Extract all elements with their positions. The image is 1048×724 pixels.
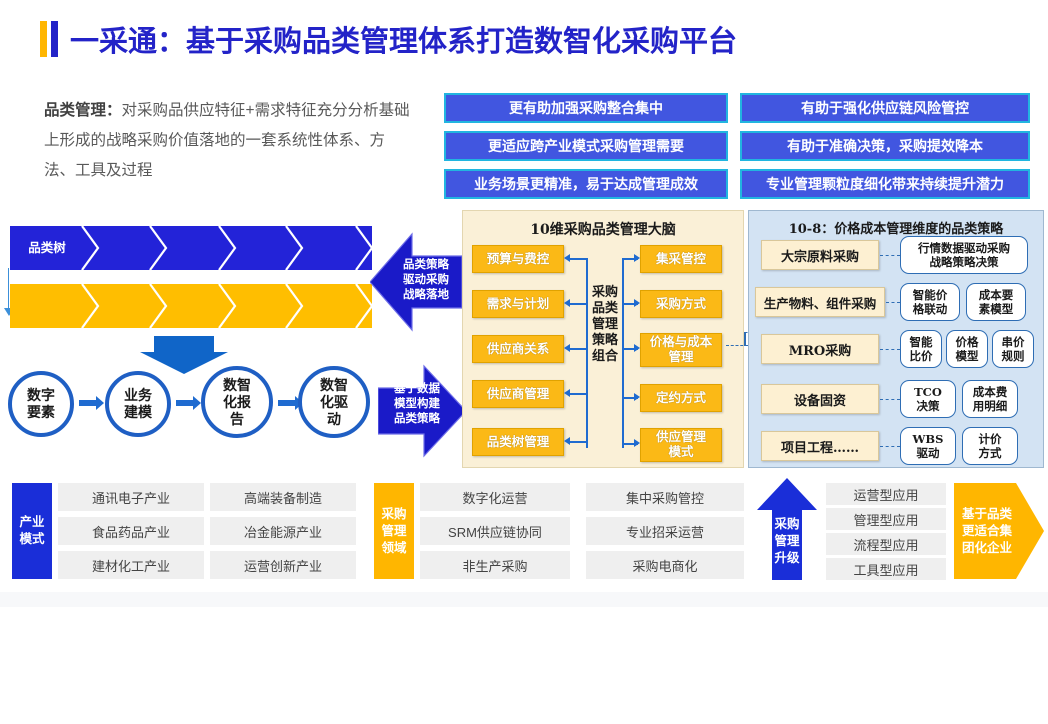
bottom-label-domain-2: 管理 [381,523,406,540]
upgrade-item-3[interactable]: 流程型应用 [826,533,946,555]
domain-col2-2[interactable]: 专业招采运营 [586,517,744,545]
rp-tag-4-1[interactable]: TCO 决策 [900,380,956,418]
center-strategy-label: 采购 品类 管理 策略 组合 [582,285,628,365]
rp-tag-3-2-b: 模型 [956,349,979,363]
center-right-item-2-label: 采购方式 [656,297,706,312]
center-right-arrow-5 [634,439,640,447]
center-label-5: 组合 [582,349,628,365]
circle-1[interactable]: 数字 要素 [8,371,74,437]
chevron-bottom-4[interactable]: 质量协同 [224,636,286,680]
center-right-item-4[interactable]: 定约方式 [640,384,722,412]
bottom-label-domain[interactable]: 采购 管理 领域 [374,483,414,579]
strategy-left-line-2: 驱动采购 [392,273,460,288]
center-panel-title: 10维采购品类管理大脑 [463,219,743,239]
upgrade-item-2[interactable]: 管理型应用 [826,508,946,530]
benefit-right-3[interactable]: 专业管理颗粒度细化带来持续提升潜力 [740,169,1030,199]
title-accent-blue-bar [51,21,58,57]
domain-col2-3[interactable]: 采购电商化 [586,551,744,579]
rp-dash-3 [880,349,900,350]
title-accent-yellow-bar [40,21,47,57]
circle-1-line-1: 数字 [27,387,55,404]
circle-4-line-2: 化驱 [320,394,348,411]
intro-paragraph: 品类管理：对采购品供应特征+需求特征充分分析基础上形成的战略采购价值落地的一套系… [44,96,414,186]
center-right-item-5[interactable]: 供应管理 模式 [640,428,722,462]
center-label-4: 策略 [582,333,628,349]
center-left-item-3[interactable]: 供应商关系 [472,335,564,363]
chevron-bottom-3-label-b: 同 [181,614,194,629]
upgrade-item-4[interactable]: 工具型应用 [826,558,946,580]
center-right-arrow-2 [634,299,640,307]
rp-tag-1-1[interactable]: 行情数据驱动采购 战略策略决策 [900,236,1028,274]
final-chevron-line-1: 基于品类 [962,506,1012,523]
domain-col1-2[interactable]: SRM供应链协同 [420,517,570,545]
down-arrow-icon [140,336,228,374]
circle-2-line-2: 建模 [124,404,152,421]
final-chevron-label[interactable]: 基于品类 更适合集 团化企业 [954,483,1020,579]
rp-category-5[interactable]: 项目工程…… [761,431,879,461]
center-right-item-2[interactable]: 采购方式 [640,290,722,318]
rp-tag-4-2[interactable]: 成本费 用明细 [962,380,1018,418]
chevron-bottom-4-label: 质量协同 [230,651,280,666]
circle-connector-1 [79,400,97,406]
center-left-arrow-2 [564,299,570,307]
circle-3-line-2: 化报 [223,394,251,411]
benefit-left-1[interactable]: 更有助加强采购整合集中 [444,93,728,123]
center-left-item-5[interactable]: 品类树管理 [472,428,564,456]
circle-connector-2 [176,400,194,406]
chevron-bottom-5[interactable]: 对账结算 1 [292,680,358,724]
chevron-bottom-5-label-b: 1 [322,702,329,717]
rp-tag-3-3-a: 串价 [1002,335,1025,349]
circle-3[interactable]: 数智 化报 告 [201,366,273,438]
rp-tag-5-2-a: 计价 [979,432,1002,446]
center-right-item-3-label-a: 价格与成本 [650,335,713,350]
rp-tag-2-1-a: 智能价 [913,288,948,302]
rp-tag-3-1-b: 比价 [910,349,933,363]
industry-col1-1[interactable]: 通讯电子产业 [58,483,204,511]
data-right-line-2: 模型构建 [384,397,450,412]
rp-tag-5-1-b: 驱动 [917,446,940,460]
rp-category-4[interactable]: 设备固资 [761,384,879,414]
bottom-label-industry[interactable]: 产业 模式 [12,483,52,579]
center-left-item-2[interactable]: 需求与计划 [472,290,564,318]
rp-category-2[interactable]: 生产物料、组件采购 [755,287,885,317]
center-left-arrow-5 [564,437,570,445]
industry-col2-3[interactable]: 运营创新产业 [210,551,356,579]
industry-col2-1[interactable]: 高端装备制造 [210,483,356,511]
page-title: 一采通：基于采购品类管理体系打造数智化采购平台 [40,18,737,60]
rp-tag-4-2-a: 成本费 [973,385,1008,399]
bottom-label-upgrade[interactable]: 采购 管理 升级 [760,508,814,574]
domain-col1-1[interactable]: 数字化运营 [420,483,570,511]
rp-tag-3-2[interactable]: 价格 模型 [946,330,988,368]
rp-tag-4-2-b: 用明细 [973,399,1008,413]
center-right-item-5-label-b: 模式 [668,445,693,460]
center-left-item-1[interactable]: 预算与费控 [472,245,564,273]
chevron-bottom-5-label-a: 对账结算 [300,687,350,702]
center-label-2: 品类 [582,301,628,317]
center-right-item-4-label: 定约方式 [656,391,706,406]
center-left-conn-4 [570,393,588,395]
circle-2[interactable]: 业务 建模 [105,371,171,437]
rp-dash-4 [880,399,900,400]
rp-dash-5 [880,446,900,447]
center-left-arrow-4 [564,389,570,397]
benefit-left-2[interactable]: 更适应跨产业模式采购管理需要 [444,131,728,161]
bottom-label-domain-1: 采购 [381,506,406,523]
rp-tag-3-1-a: 智能 [910,335,933,349]
rp-tag-2-2-b: 素模型 [979,302,1014,316]
center-right-item-3-label-b: 管理 [668,350,693,365]
circle-4-line-1: 数智 [320,377,348,394]
circle-1-line-2: 要素 [27,404,55,421]
bottom-label-industry-2: 模式 [19,531,44,548]
center-right-arrow-1 [634,254,640,262]
industry-col1-3[interactable]: 建材化工产业 [58,551,204,579]
rp-tag-5-2[interactable]: 计价 方式 [962,427,1018,465]
bottom-label-upgrade-1: 采购 [774,516,799,533]
circle-connector-3 [278,400,296,406]
bottom-label-upgrade-3: 升级 [774,550,799,567]
center-left-arrow-3 [564,344,570,352]
domain-col1-3[interactable]: 非生产采购 [420,551,570,579]
rp-tag-1-1-b: 战略策略决策 [930,255,999,269]
center-right-item-3[interactable]: 价格与成本 管理 [640,333,722,367]
strategy-left-arrow-label: 品类策略 驱动采购 战略落地 [392,258,460,303]
footer-strip [0,592,1048,607]
chevron-band-bottom [10,284,372,328]
industry-col2-2[interactable]: 冶金能源产业 [210,517,356,545]
data-right-line-3: 品类策略 [384,412,450,427]
center-label-1: 采购 [582,285,628,301]
rp-tag-2-1[interactable]: 智能价 格联动 [900,283,960,321]
circle-3-line-3: 告 [223,411,251,428]
rp-tag-4-1-b: 决策 [917,399,940,413]
center-right-arrow-4 [634,393,640,401]
center-right-item-1-label: 集采管控 [656,252,706,267]
rp-tag-3-1[interactable]: 智能 比价 [900,330,942,368]
bottom-label-upgrade-2: 管理 [774,533,799,550]
strategy-left-line-3: 战略落地 [392,288,460,303]
benefit-right-2[interactable]: 有助于准确决策，采购提效降本 [740,131,1030,161]
rp-category-1[interactable]: 大宗原料采购 [761,240,879,270]
chevron-top-1[interactable]: 品类树 [14,226,80,270]
rp-dash-1 [880,255,900,256]
center-left-item-4[interactable]: 供应商管理 [472,380,564,408]
rp-tag-2-1-b: 格联动 [913,302,948,316]
center-left-arrow-1 [564,254,570,262]
data-right-line-1: 基于数据 [384,382,450,397]
rp-tag-3-3[interactable]: 串价 规则 [992,330,1034,368]
right-panel-title: 10-8：价格成本管理维度的品类策略 [749,218,1043,237]
rp-tag-5-2-b: 方式 [979,446,1002,460]
data-right-arrow-label: 基于数据 模型构建 品类策略 [384,382,450,427]
circle-4-line-3: 动 [320,411,348,428]
bottom-label-domain-3: 领域 [381,540,406,557]
circle-4[interactable]: 数智 化驱 动 [298,366,370,438]
upgrade-item-1[interactable]: 运营型应用 [826,483,946,505]
rp-dash-2 [886,302,900,303]
center-right-item-1[interactable]: 集采管控 [640,245,722,273]
slide-root: 一采通：基于采购品类管理体系打造数智化采购平台 品类管理：对采购品供应特征+需求… [0,0,1048,607]
benefit-right-1[interactable]: 有助于强化供应链风险管控 [740,93,1030,123]
chevron-top-1-label: 品类树 [28,241,66,256]
rp-tag-3-2-a: 价格 [956,335,979,349]
intro-label: 品类管理： [44,102,122,119]
panel-link-riser [744,332,746,346]
bottom-label-industry-1: 产业 [19,514,44,531]
rp-tag-1-1-a: 行情数据驱动采购 [918,241,1010,255]
circle-3-line-1: 数智 [223,377,251,394]
domain-col2-1[interactable]: 集中采购管控 [586,483,744,511]
title-text: 一采通：基于采购品类管理体系打造数智化采购平台 [70,18,737,60]
center-left-conn-1 [570,258,588,260]
rp-category-3[interactable]: MRO采购 [761,334,879,364]
benefit-left-3[interactable]: 业务场景更精准，易于达成管理成效 [444,169,728,199]
industry-col1-2[interactable]: 食品药品产业 [58,517,204,545]
strategy-left-line-1: 品类策略 [392,258,460,273]
circle-2-line-1: 业务 [124,387,152,404]
rp-tag-5-1[interactable]: WBS 驱动 [900,427,956,465]
center-label-3: 管理 [582,317,628,333]
rp-tag-5-1-a: WBS [913,432,944,446]
final-chevron-line-2: 更适合集 [962,523,1012,540]
rp-tag-4-1-a: TCO [914,385,942,399]
rp-tag-3-3-b: 规则 [1002,349,1025,363]
center-left-conn-5 [570,441,588,443]
center-right-arrow-3 [634,344,640,352]
rp-tag-2-2-a: 成本要 [979,288,1014,302]
center-right-item-5-label-a: 供应管理 [656,430,706,445]
rp-tag-2-2[interactable]: 成本要 素模型 [966,283,1026,321]
final-chevron-line-3: 团化企业 [962,540,1012,557]
